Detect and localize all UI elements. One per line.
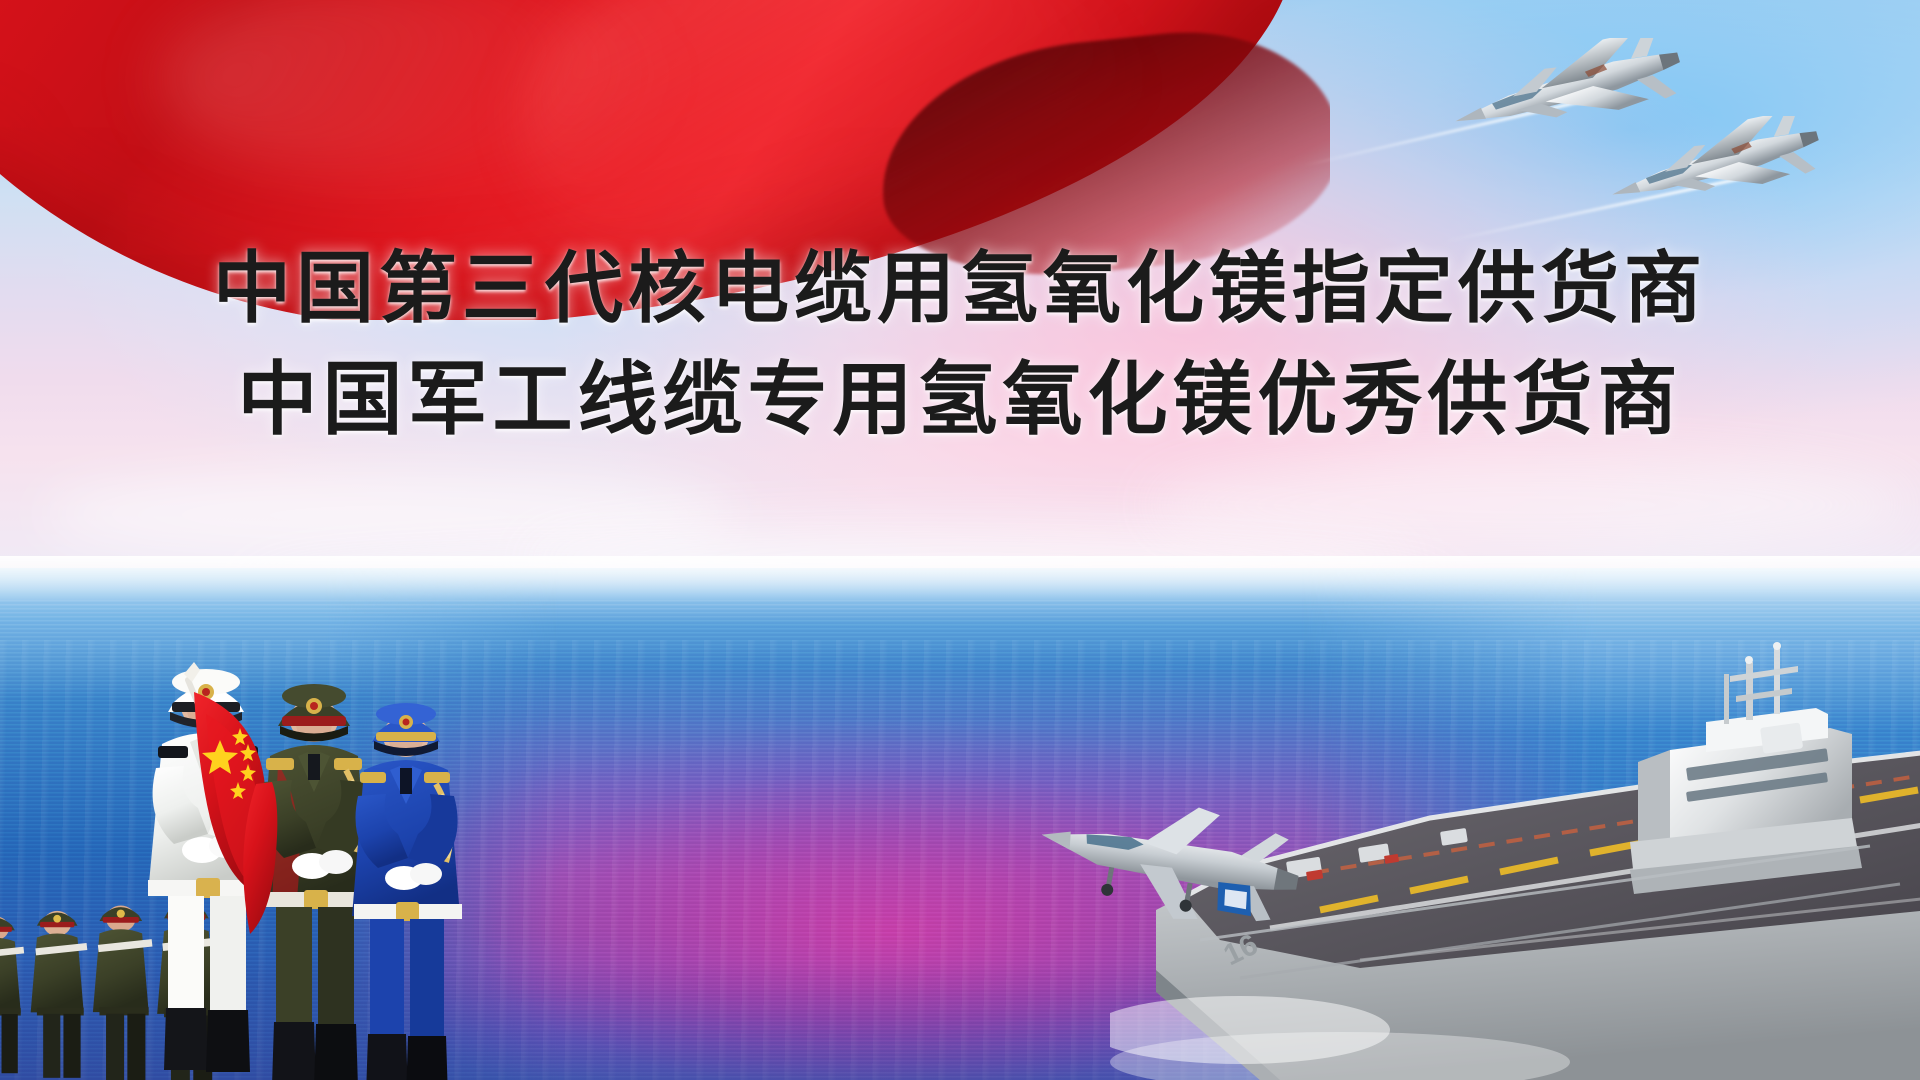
cloud-band [1150,455,1910,555]
carrier-borne-fighter [1010,800,1310,980]
headline-block: 中国第三代核电缆用氢氧化镁指定供货商 中国军工线缆专用氢氧化镁优秀供货商 [0,232,1920,456]
honor-guard-icon [0,618,530,1080]
deck-fighter-icon [1010,800,1310,980]
carrier-island [1638,642,1852,848]
page-title: 中国第三代核电缆用氢氧化镁指定供货商 [0,232,1920,344]
army-flag-bearer [243,684,372,1080]
page-subtitle: 中国军工线缆专用氢氧化镁优秀供货商 [0,344,1920,456]
fighter-jet-wing [1598,116,1828,221]
airforce-honor-guard [352,703,462,1080]
promotional-banner: 16 [0,0,1920,1080]
fighter-jet-icon [1598,116,1828,221]
honor-guard-formation [0,618,530,1080]
horizon-haze [0,556,1920,602]
